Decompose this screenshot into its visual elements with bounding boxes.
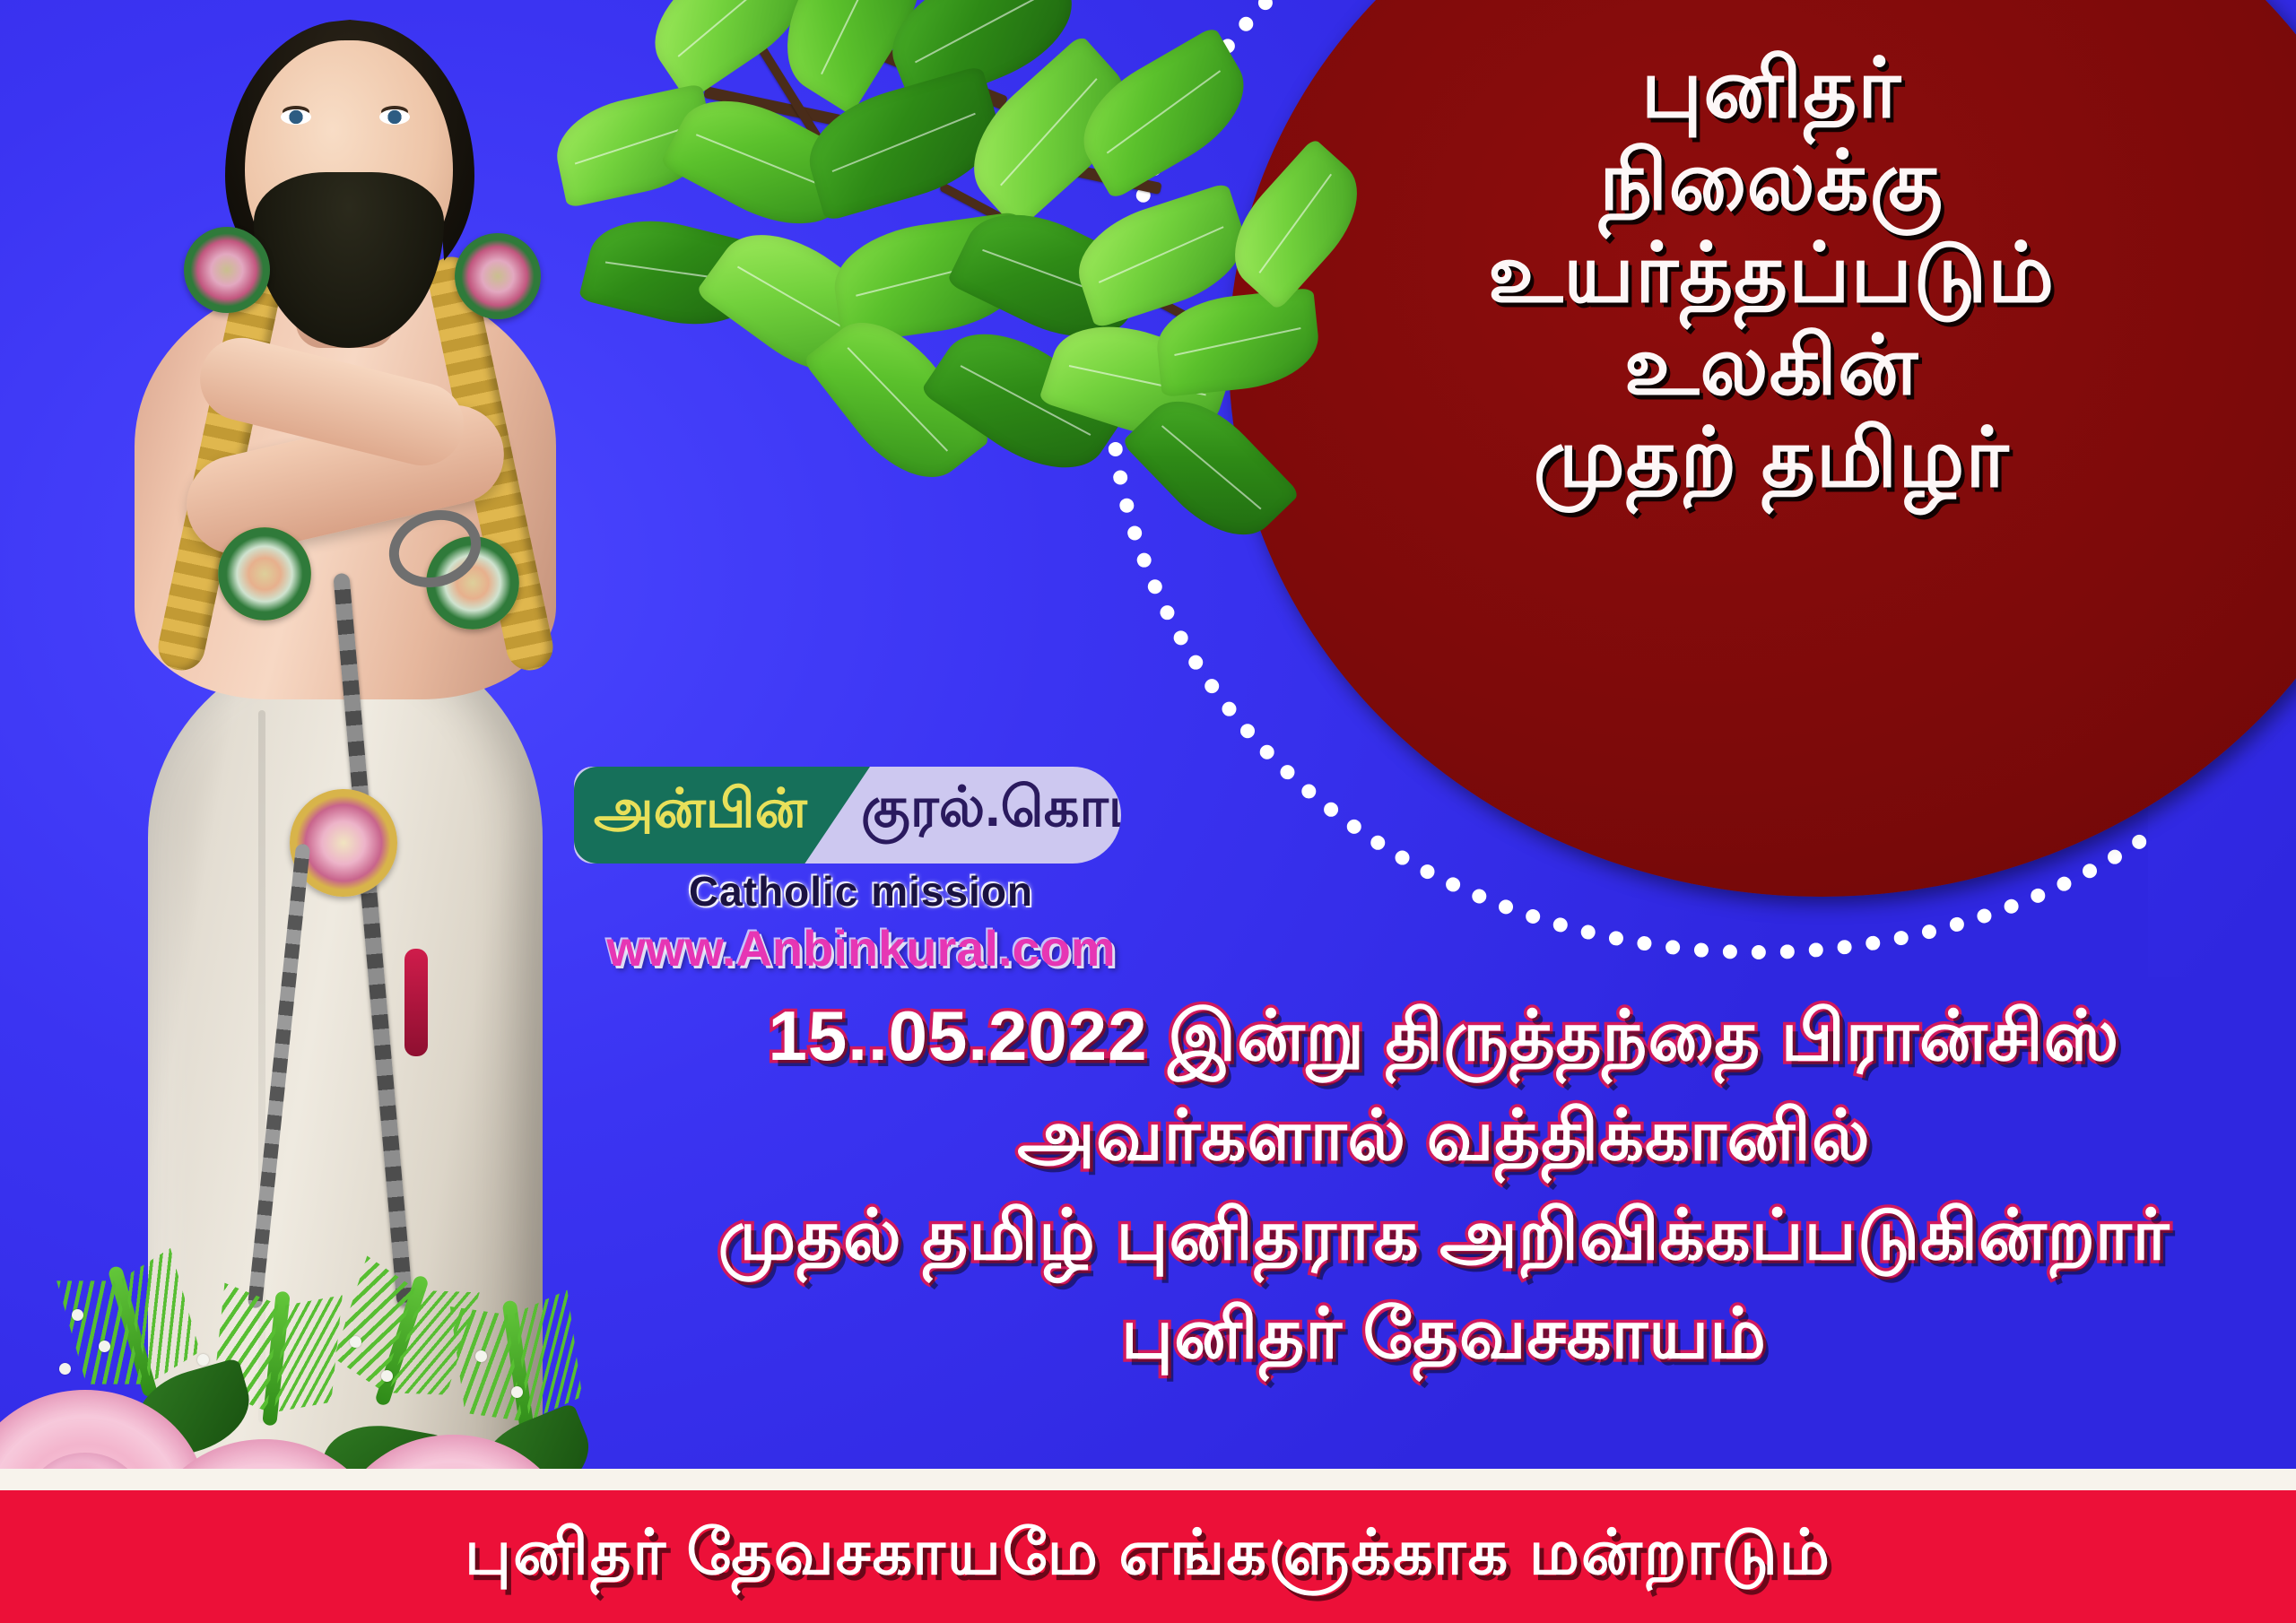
logo-brand-left: அன்பின் (594, 779, 854, 838)
headline-block: புனிதர் நிலைக்கு உயர்த்தப்படும் உலகின் ம… (1283, 43, 2260, 505)
headline-line-3: உயர்த்தப்படும் (1283, 228, 2260, 320)
announcement-text-block: 15..05.2022 இன்று திருத்தந்தை பிரான்சிஸ்… (592, 986, 2296, 1384)
site-logo[interactable]: அன்பின் குரல்.கொம் Catholic mission www.… (574, 767, 1148, 977)
logo-pill: அன்பின் குரல்.கொம் (574, 767, 1121, 864)
announcement-line-3: முதல் தமிழ் புனிதராக அறிவிக்கப்படுகின்றா… (592, 1185, 2296, 1285)
headline-line-5: முதற் தமிழர் (1283, 412, 2260, 505)
banner-text: புனிதர் தேவசகாயமே எங்களுக்காக மன்றாடும் (465, 1516, 1831, 1597)
announcement-line-4: புனிதர் தேவசகாயம் (592, 1284, 2296, 1384)
headline-line-2: நிலைக்கு (1283, 135, 2260, 228)
statue-tassel (404, 949, 428, 1056)
announcement-line-1: 15..05.2022 இன்று திருத்தந்தை பிரான்சிஸ் (592, 986, 2296, 1086)
logo-brand-right: குரல்.கொம் (861, 777, 1118, 838)
headline-line-1: புனிதர் (1283, 43, 2260, 135)
statue-rosette (455, 233, 541, 319)
logo-subtitle: Catholic mission (574, 867, 1148, 916)
logo-website-url[interactable]: www.Anbinkural.com (574, 919, 1148, 977)
statue-rosette (184, 227, 270, 313)
statue-rosette (218, 527, 311, 621)
statue-eye-left (281, 109, 311, 125)
poster-canvas: புனிதர் நிலைக்கு உயர்த்தப்படும் உலகின் ம… (0, 0, 2296, 1623)
statue-eye-right (379, 109, 410, 125)
headline-line-4: உலகின் (1283, 320, 2260, 412)
banner-separator (0, 1469, 2296, 1490)
bottom-prayer-banner: புனிதர் தேவசகாயமே எங்களுக்காக மன்றாடும் (0, 1490, 2296, 1623)
announcement-line-2: அவர்களால் வத்திக்கானில் (592, 1086, 2296, 1185)
